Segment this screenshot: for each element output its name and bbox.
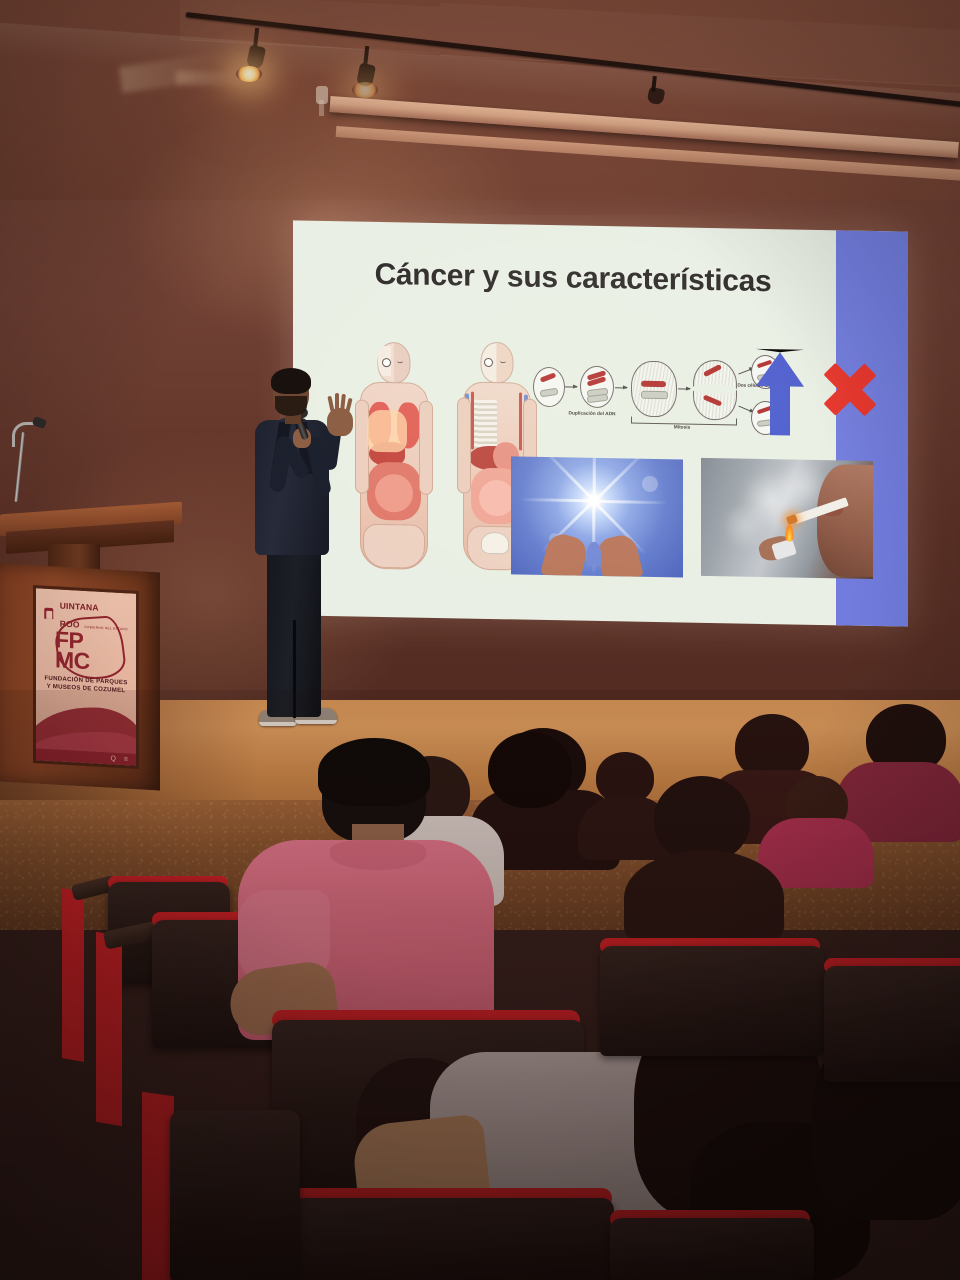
anatomy-pelvis: [363, 524, 425, 569]
theater-seat: [824, 966, 960, 1082]
sun-ray: [592, 456, 595, 501]
audience-area: [0, 690, 960, 1280]
fpmc-acronym-line2: MC: [55, 649, 90, 672]
audience-shoulder: [624, 850, 784, 946]
anatomy-intestines-coil: [479, 480, 515, 517]
label-mitosis: Mitosis: [651, 425, 713, 432]
quintana-roo-line1: UINTANA: [60, 601, 99, 613]
seat-side-panel: [62, 888, 84, 1062]
sun-ray: [593, 456, 647, 502]
finger: [327, 396, 334, 412]
audience-head: [488, 732, 572, 808]
sun-exposure-photo: [511, 456, 683, 577]
hand-silhouette-right: [594, 532, 643, 577]
projection-screen: Cáncer y sus características: [293, 220, 908, 626]
open-palm-hand: [327, 408, 353, 436]
theater-seat: [170, 1110, 300, 1280]
lens-flare: [642, 475, 658, 491]
anatomy-eye: [397, 358, 403, 363]
anatomy-intestines-coil: [375, 474, 413, 513]
theater-seat: [600, 946, 824, 1056]
anatomy-eye: [382, 358, 391, 367]
sun-ray: [594, 500, 668, 504]
anatomy-eye: [484, 358, 493, 367]
mitosis-brace: [631, 417, 737, 426]
ceiling-sensor: [319, 100, 324, 116]
up-arrow-icon: [756, 349, 804, 436]
auditorium-photo: Cáncer y sus características: [0, 0, 960, 1280]
sun-ray: [520, 499, 594, 503]
seat-side-panel: [96, 932, 122, 1127]
chromosome-grey: [641, 391, 668, 399]
state-shield-icon: [44, 607, 53, 619]
chromosome-red: [641, 381, 666, 387]
anatomy-artery-red: [471, 392, 474, 450]
flow-arrow: [678, 388, 690, 390]
finger: [345, 398, 352, 413]
cigarette-smoking-photo: [701, 458, 873, 579]
flow-arrow: [565, 386, 577, 388]
theater-seat: [292, 1198, 614, 1280]
face-profile: [817, 464, 873, 577]
anatomy-eye: [500, 358, 506, 363]
hand-shadow-on-slide: [367, 410, 407, 453]
cell-stage: [533, 367, 565, 408]
finger: [335, 393, 339, 411]
anatomy-arm: [457, 397, 471, 493]
beard: [275, 396, 307, 416]
theater-seat: [610, 1218, 814, 1280]
hair: [271, 368, 311, 394]
hand-silhouette-left: [540, 531, 589, 578]
sun-ray: [540, 456, 594, 502]
polo-collar: [330, 840, 426, 870]
arrow-shaft: [770, 382, 790, 435]
flame: [785, 523, 794, 541]
audience-hair: [318, 738, 430, 806]
flow-arrow: [615, 387, 627, 389]
red-x-icon: [815, 352, 885, 427]
anatomy-arm: [419, 401, 433, 495]
spotlight-bulb: [352, 82, 378, 98]
cell-stage-metaphase: [631, 361, 677, 418]
finger-gap: [587, 542, 601, 566]
label-dna-duplication: Duplicación del ADN: [561, 411, 623, 418]
arrow-head: [756, 349, 804, 387]
slide-title: Cáncer y sus características: [293, 256, 853, 300]
anatomy-pelvic-bone: [481, 532, 509, 555]
cell-division-diagram: Duplicación del ADN Mitosis Dos células …: [533, 353, 778, 443]
anatomy-artery-red: [519, 393, 522, 451]
